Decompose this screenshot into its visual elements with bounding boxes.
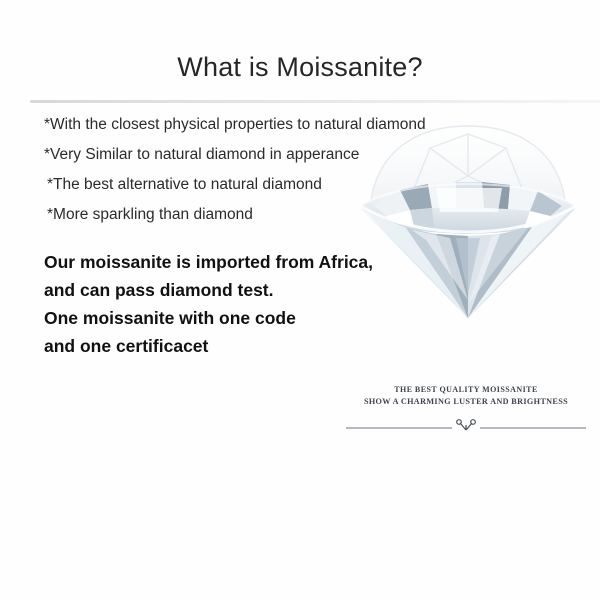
origin-statement-block: Our moissanite is imported from Africa, … — [44, 248, 404, 360]
statement-line: and one certificacet — [44, 332, 404, 360]
page-title: What is Moissanite? — [0, 52, 600, 83]
title-divider — [30, 100, 600, 103]
footer-line-2: SHOW A CHARMING LUSTER AND BRIGHTNESS — [341, 396, 591, 408]
moissanite-info-poster: What is Moissanite? *With the closest ph… — [0, 0, 600, 600]
statement-line: and can pass diamond test. — [44, 276, 404, 304]
statement-line: One moissanite with one code — [44, 304, 404, 332]
footer-line-1: THE BEST QUALITY MOISSANITE — [341, 384, 591, 396]
statement-line: Our moissanite is imported from Africa, — [44, 248, 404, 276]
brilliant-cut-diamond-icon — [352, 118, 584, 324]
footer-tagline: THE BEST QUALITY MOISSANITE SHOW A CHARM… — [341, 384, 591, 408]
floral-ornament-divider-icon — [346, 419, 586, 433]
